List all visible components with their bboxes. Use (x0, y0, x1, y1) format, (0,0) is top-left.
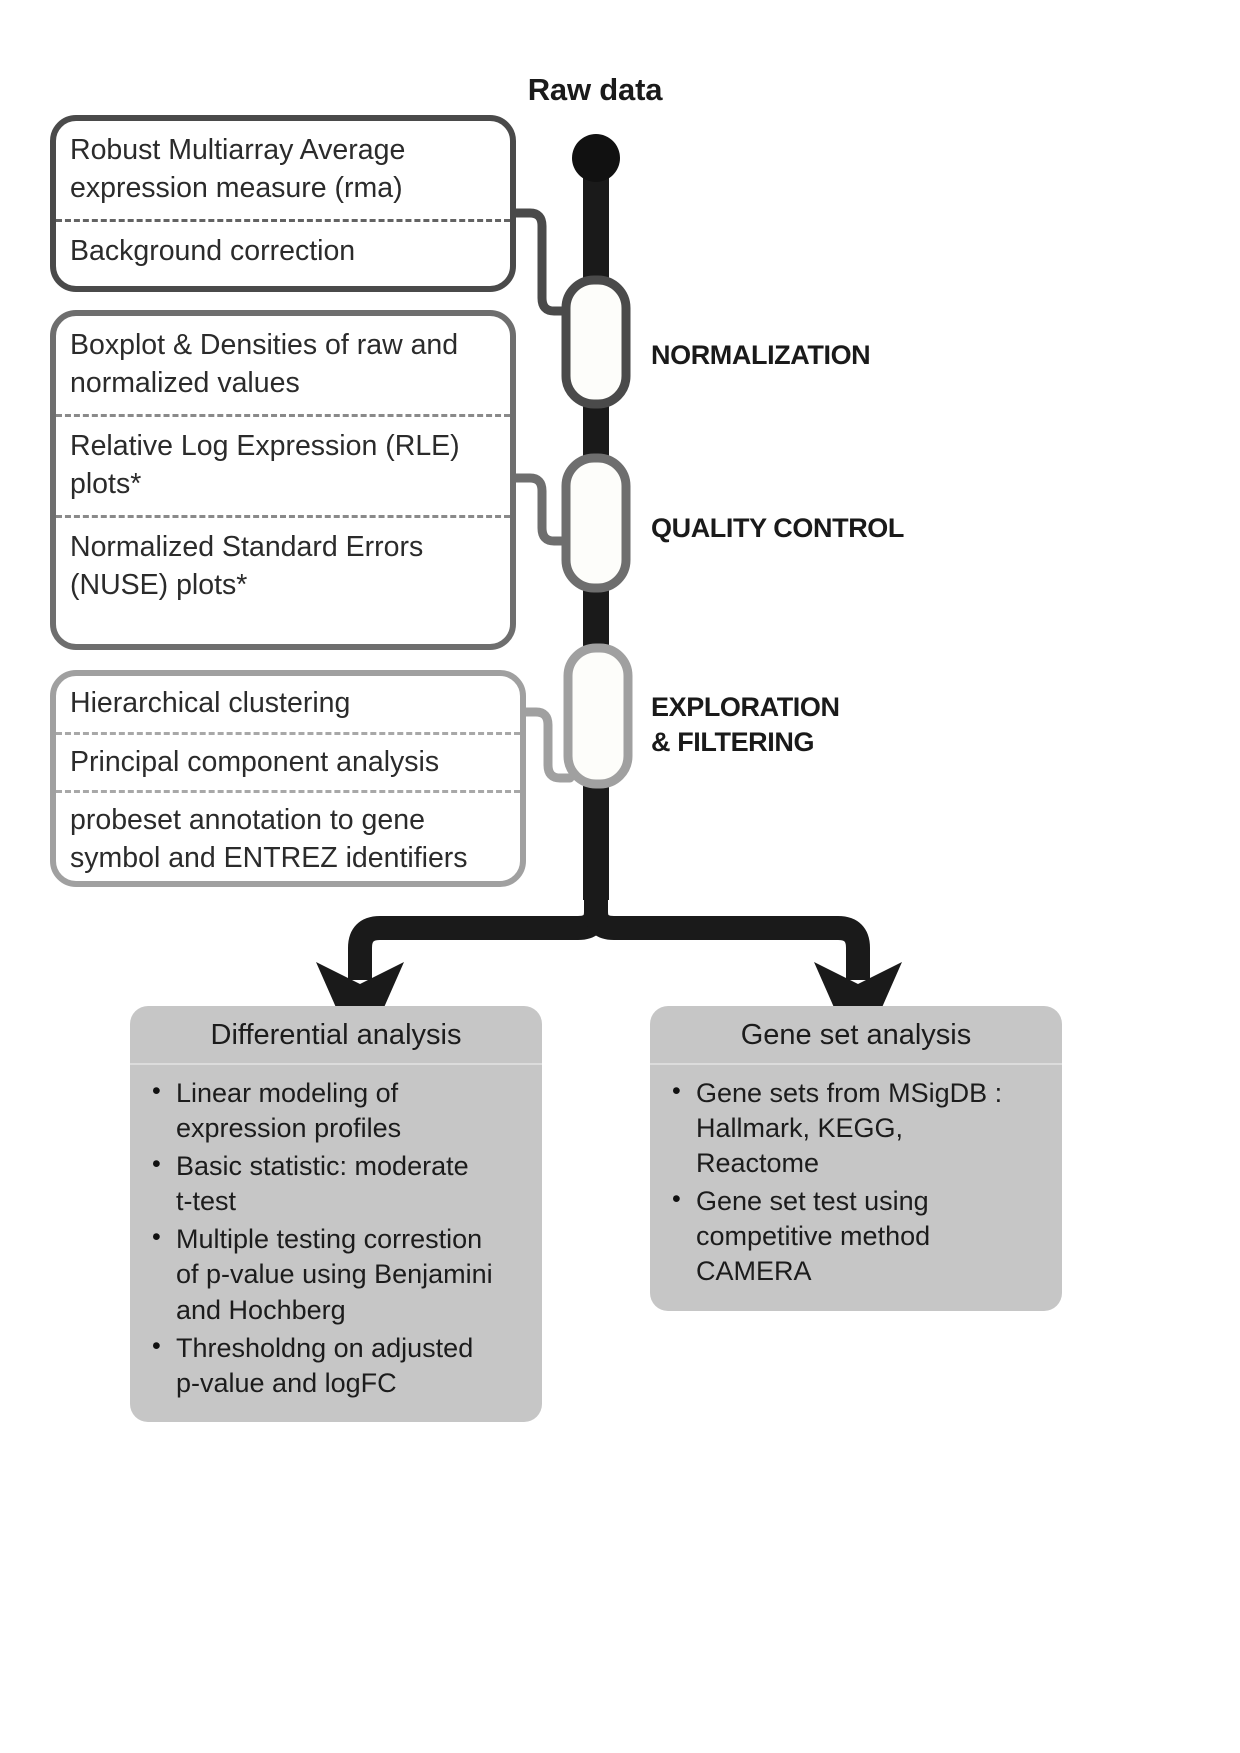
list-item: Thresholdng on adjusted p-value and logF… (146, 1331, 526, 1401)
stage-box-quality-control: Boxplot & Densities of raw and normalize… (50, 310, 516, 650)
stage-row-rma: Robust Multiarray Average expression mea… (56, 121, 510, 219)
stage-node-quality-control (566, 458, 626, 588)
stage-row-nuse-plots: Normalized Standard Errors (NUSE) plots* (56, 515, 510, 616)
list-item: Multiple testing correstion of p-value u… (146, 1222, 526, 1327)
connector-quality-control (516, 478, 568, 541)
stage-label-exploration: EXPLORATION & FILTERING (651, 690, 840, 759)
stage-node-normalization (566, 280, 626, 404)
stage-row-rle-plots: Relative Log Expression (RLE) plots* (56, 414, 510, 515)
connector-exploration (526, 712, 570, 778)
panel-gene-set-analysis-list: Gene sets from MSigDB : Hallmark, KEGG, … (650, 1065, 1062, 1311)
fork-arrow-right (596, 895, 858, 980)
panel-differential-analysis-title: Differential analysis (130, 1006, 542, 1065)
connector-normalization (516, 213, 568, 311)
stage-box-normalization-rows: Robust Multiarray Average expression mea… (56, 121, 510, 283)
panel-gene-set-analysis-title: Gene set analysis (650, 1006, 1062, 1065)
stage-box-quality-control-rows: Boxplot & Densities of raw and normalize… (56, 316, 510, 617)
panel-differential-analysis: Differential analysis Linear modeling of… (130, 1006, 542, 1422)
list-item: Gene sets from MSigDB : Hallmark, KEGG, … (666, 1076, 1046, 1181)
stage-label-normalization: NORMALIZATION (651, 338, 870, 373)
list-item: Gene set test using competitive method C… (666, 1184, 1046, 1289)
panel-differential-analysis-list: Linear modeling of expression profiles B… (130, 1065, 542, 1422)
list-item: Linear modeling of expression profiles (146, 1076, 526, 1146)
stage-row-boxplot-densities: Boxplot & Densities of raw and normalize… (56, 316, 510, 414)
list-item: Basic statistic: moderate t-test (146, 1149, 526, 1219)
stage-box-normalization: Robust Multiarray Average expression mea… (50, 115, 516, 292)
panel-gene-set-analysis: Gene set analysis Gene sets from MSigDB … (650, 1006, 1062, 1311)
stage-row-probeset-annotation: probeset annotation to gene symbol and E… (56, 790, 520, 886)
raw-data-node-dot (572, 134, 620, 182)
stage-box-exploration: Hierarchical clustering Principal compon… (50, 670, 526, 887)
stage-row-principal-component-analysis: Principal component analysis (56, 732, 520, 791)
stage-box-exploration-rows: Hierarchical clustering Principal compon… (56, 676, 520, 886)
stage-row-hierarchical-clustering: Hierarchical clustering (56, 676, 520, 732)
fork-arrow-left (360, 895, 596, 980)
raw-data-title: Raw data (430, 72, 760, 108)
stage-node-exploration (568, 648, 628, 784)
workflow-diagram: Raw data Robust Multiarray Average expre… (0, 0, 1240, 1753)
stage-row-background-correction: Background correction (56, 219, 510, 283)
stage-label-quality-control: QUALITY CONTROL (651, 511, 904, 546)
